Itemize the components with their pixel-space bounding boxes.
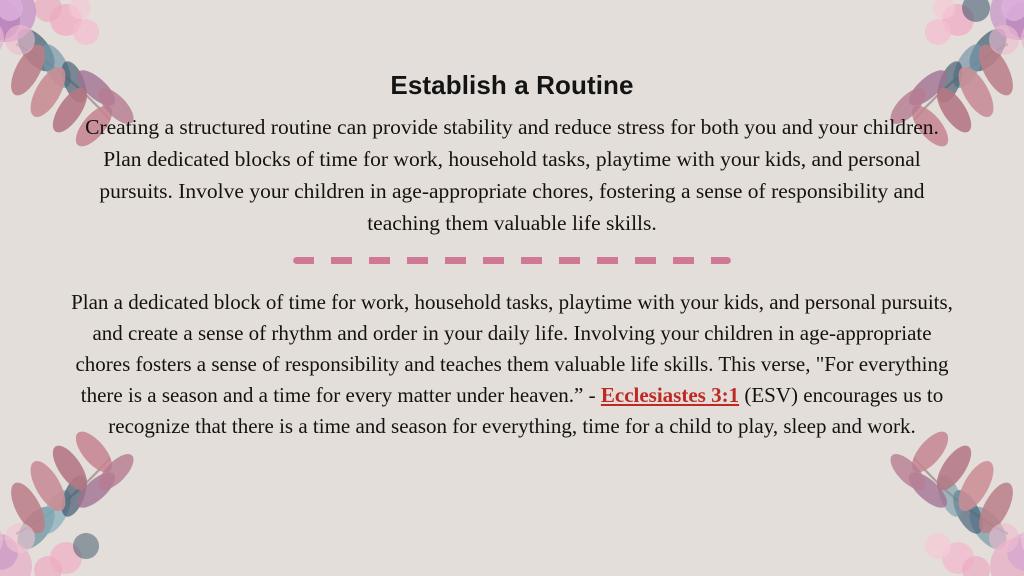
divider-row bbox=[62, 243, 962, 277]
page-title: Establish a Routine bbox=[62, 70, 962, 101]
slide-content: Establish a Routine Creating a structure… bbox=[0, 0, 1024, 442]
paragraph-one: Creating a structured routine can provid… bbox=[62, 111, 962, 239]
slide-canvas: Establish a Routine Creating a structure… bbox=[0, 0, 1024, 576]
paragraph-two: Plan a dedicated block of time for work,… bbox=[62, 287, 962, 442]
dashed-divider bbox=[293, 257, 731, 264]
scripture-reference-link[interactable]: Ecclesiastes 3:1 bbox=[601, 383, 739, 407]
